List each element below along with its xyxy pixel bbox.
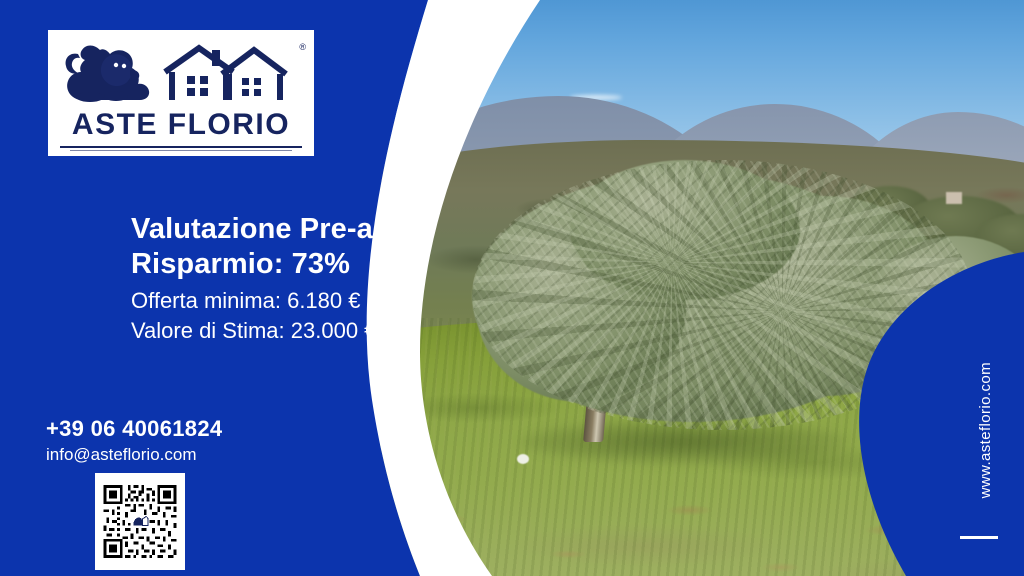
registered-trademark-icon: ®	[299, 42, 306, 52]
brand-logo[interactable]: ® ASTE FLORIO	[48, 30, 314, 156]
contact-block: +39 06 40061824 info@asteflorio.com	[46, 415, 222, 467]
qr-embedded-logo	[131, 515, 150, 528]
website-underline	[960, 536, 998, 539]
window-pane	[187, 76, 195, 84]
qr-code[interactable]	[95, 473, 185, 570]
estimated-value-text: Valore di Stima: 23.000 €	[131, 316, 376, 346]
window-pane	[200, 76, 208, 84]
chimney	[212, 50, 220, 66]
headline-line-2: Risparmio: 73%	[131, 247, 415, 282]
window-pane	[200, 88, 208, 96]
window-pane	[254, 78, 261, 85]
window-pane	[254, 89, 261, 96]
window-pane	[187, 88, 195, 96]
email-address[interactable]: info@asteflorio.com	[46, 443, 222, 467]
window-pane	[242, 89, 249, 96]
minimum-offer-text: Offerta minima: 6.180 €	[131, 286, 376, 316]
auction-promo-poster: ® ASTE FLORIO Valutazione Pre-asta Rispa…	[0, 0, 1024, 576]
logo-divider-thin	[70, 150, 292, 151]
logo-mark	[54, 36, 308, 108]
logo-wordmark: ASTE FLORIO	[54, 108, 308, 142]
window-pane	[242, 78, 249, 85]
lion-icon	[66, 46, 150, 103]
headline-block: Valutazione Pre-asta Risparmio: 73%	[131, 212, 415, 282]
logo-divider	[60, 146, 302, 148]
poster-content: ® ASTE FLORIO Valutazione Pre-asta Rispa…	[0, 0, 1024, 576]
phone-number[interactable]: +39 06 40061824	[46, 415, 222, 443]
price-details-block: Offerta minima: 6.180 € Valore di Stima:…	[131, 286, 376, 346]
website-url[interactable]: www.asteflorio.com	[977, 362, 994, 498]
headline-line-1: Valutazione Pre-asta	[131, 212, 415, 247]
